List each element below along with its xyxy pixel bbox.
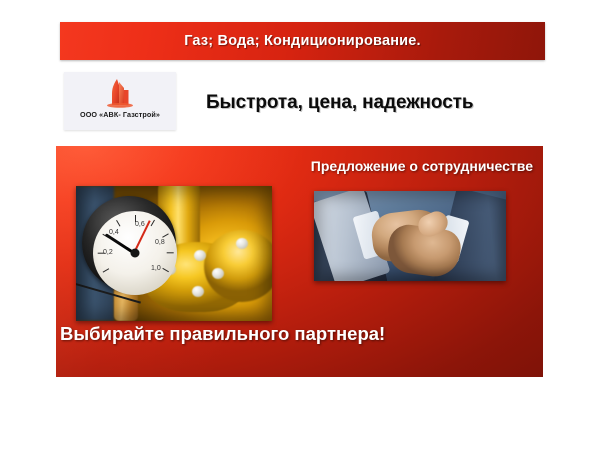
panel-footline-text: Выбирайте правильного партнера! (60, 323, 385, 345)
tagline-text: Быстрота, цена, надежность (206, 92, 473, 114)
gauge-photo-vignette (76, 186, 272, 321)
gas-pressure-gauge-photo: 0,2 0,4 0,6 0,8 1,0 (76, 186, 272, 321)
title-banner: Газ; Вода; Кондиционирование. (60, 22, 545, 60)
presentation-slide: Газ; Вода; Кондиционирование. (0, 0, 614, 460)
business-handshake-photo (314, 191, 506, 281)
main-red-panel: Предложение о сотрудничестве (56, 146, 543, 377)
title-banner-text: Газ; Вода; Кондиционирование. (184, 33, 421, 49)
handshake-photo-vignette (314, 191, 506, 281)
company-logo: ООО «АВК- Газстрой» (64, 72, 176, 130)
building-flame-icon (100, 77, 140, 109)
company-logo-caption: ООО «АВК- Газстрой» (80, 110, 160, 119)
panel-subtitle-text: Предложение о сотрудничестве (311, 158, 533, 174)
